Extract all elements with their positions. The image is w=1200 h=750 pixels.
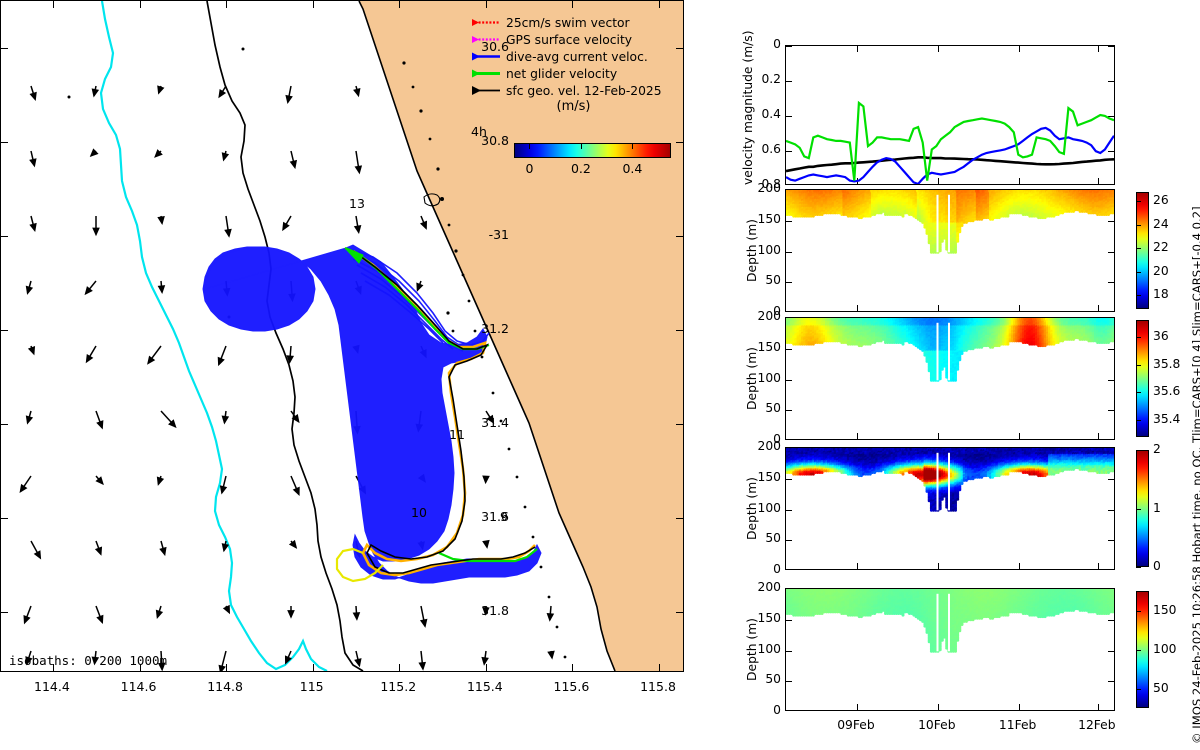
panel-salinity[interactable] [785,317,1115,440]
geostrophic-arrow-head [219,90,224,96]
map-ytick-label: 31.8 [453,603,516,618]
map-ytick-label: 30.8 [453,133,516,148]
geostrophic-arrow-head [283,223,288,229]
map-xtick-mark [486,1,487,8]
map-xtick-mark [53,664,54,671]
panel-ytick-label: 200 [743,181,781,195]
map-xtick-mark [313,664,314,671]
data-point [958,358,961,361]
map-colorbar-tick-label: 0.4 [622,161,642,176]
map-colorbar [514,143,671,158]
map-xtick-label: 115.6 [536,679,606,694]
map-xtick-mark [572,1,573,8]
data-point [961,352,964,355]
geostrophic-arrow-head [219,358,224,364]
data-point [956,240,959,243]
geostrophic-arrow-head [158,86,163,92]
geostrophic-arrow-head [159,217,164,223]
data-gap [937,195,939,253]
colorbar-tick-mark [1136,225,1141,226]
geostrophic-arrow-head [354,89,359,95]
map-colorbar-tick-label: 0.2 [571,161,591,176]
data-point [939,377,942,380]
map-xtick-mark [313,1,314,8]
map-xtick-mark [399,664,400,671]
legend-label: sfc geo. vel. 12-Feb-2025 [506,84,662,98]
map-ytick-label: 31.6 [453,509,516,524]
arrow-right-icon [471,85,501,96]
map-colorbar-tick-label: 0 [525,161,533,176]
geostrophic-arrow-head [221,486,226,492]
colorbar-temperature [1136,192,1149,309]
map-xtick-label: 115.2 [363,679,433,694]
arrow-right-icon [471,68,501,79]
map-xtick-label: 114.8 [190,679,260,694]
geostrophic-arrow-head [356,166,361,172]
map-ytick-mark [676,518,683,519]
map-xtick-mark [659,664,660,671]
data-point [939,249,942,252]
geostrophic-arrow-head [421,620,426,626]
velocity-lines [786,46,1114,184]
data-point [902,215,905,218]
geostrophic-arrow-head [98,616,103,622]
panel-temperature[interactable] [785,189,1115,312]
map-colorbar-tick-mark [529,144,530,149]
geostrophic-arrow-head [548,614,553,620]
map-ytick-mark [1,518,8,519]
map-ytick-mark [676,330,683,331]
map-legend: 25cm/s swim vector GPS surface velocity … [471,14,676,114]
panel-ytick-label: 150 [743,212,781,226]
colorbar-tick-label: 26 [1153,193,1169,207]
map-xtick-mark [140,1,141,8]
geostrophic-arrow-head [355,659,360,665]
data-point [1006,215,1009,218]
map-xtick-mark [140,664,141,671]
map-xtick-mark [572,664,573,671]
colorbar-tick-mark [1136,295,1141,296]
isobath-legend-note: isobaths: 0 200 1000m [9,653,167,668]
colorbar-tick-label: 18 [1153,287,1169,301]
geostrophic-arrow-head [158,478,163,484]
map-xtick-label: 114.4 [17,679,87,694]
map-axes[interactable]: isobaths: 0 200 1000m 25cm/s swim vector… [0,0,684,672]
geostrophic-arrow-head [93,89,98,95]
legend-label: net glider velocity [506,67,617,81]
map-xtick-mark [486,664,487,671]
geostrophic-arrow-head [223,416,228,422]
isobath-1000-path [101,1,327,671]
colorbar-tick-mark [1136,272,1141,273]
panel-ytick-label: 0.6 [743,142,781,156]
geostrophic-arrow-head [420,663,425,669]
legend-label: dive-avg current veloc. [506,50,648,64]
map-ytick-mark [1,236,8,237]
map-colorbar-tick-mark [632,144,633,149]
geostrophic-arrow-head [224,606,229,612]
geostrophic-arrow-head [355,226,360,232]
data-point [941,240,944,243]
data-point [956,368,959,371]
geostrophic-arrow-head [93,228,98,234]
map-colorbar-ticks: 00.20.4 [471,161,676,175]
geostrophic-arrow-head [294,488,299,494]
geostrophic-arrow-head [421,222,426,228]
data-point [958,230,961,233]
colorbar-tick-label: 20 [1153,264,1169,278]
map-ytick-label: 31.4 [453,415,516,430]
geostrophic-arrow-head [223,544,228,550]
geostrophic-arrow-head [98,421,103,427]
data-gap [948,195,950,253]
panel-ytick-label: 0 [743,37,781,51]
map-xtick-mark [226,1,227,8]
panel-ytick-label: 100 [743,243,781,257]
geostrophic-arrow-head [96,548,101,554]
map-colorbar-title: (m/s) [471,99,676,114]
section-scatter [786,190,1114,311]
map-ytick-mark [676,236,683,237]
legend-item-sfc-geo-velocity: sfc geo. vel. 12-Feb-2025 [471,82,676,99]
legend-item-net-glider-velocity: net glider velocity [471,65,676,82]
geostrophic-arrow-head [30,159,35,165]
series-line [786,157,1114,171]
map-ytick-mark [1,142,8,143]
data-point [961,224,964,227]
geostrophic-arrow-head [24,616,29,622]
map-ytick-mark [1,424,8,425]
series-line [786,103,1114,181]
geostrophic-arrow-head [27,416,32,422]
map-ytick-label: 31.2 [453,321,516,336]
data-point [954,379,957,382]
geostrophic-arrow-head [219,666,224,671]
map-ytick-mark [676,142,683,143]
colorbar-tick-label: 24 [1153,217,1169,231]
geostrophic-arrow-head [549,651,554,657]
geostrophic-arrow-head [21,485,27,491]
data-point [954,251,957,254]
legend-label: GPS surface velocity [506,33,632,47]
map-ytick-mark [676,48,683,49]
geostrophic-arrow-head [223,153,228,159]
map-xtick-label: 115.4 [450,679,520,694]
data-point [902,343,905,346]
map-xtick-mark [659,1,660,8]
panel-velocity-magnitude[interactable] [785,45,1115,185]
map-ytick-mark [1,330,8,331]
map-xtick-label: 115 [277,679,347,694]
map-xtick-label: 115.8 [623,679,693,694]
colorbar-tick-label: 22 [1153,240,1169,254]
map-ytick-mark [676,612,683,613]
geostrophic-arrow-head [35,551,40,557]
geostrophic-arrow-head [291,161,296,167]
panel-ytick-label: 50 [743,273,781,287]
map-ytick-mark [1,612,8,613]
dive-number-label: 13 [349,196,365,211]
geostrophic-arrow-head [286,96,291,102]
geostrophic-arrow-head [91,150,97,156]
geostrophic-arrow-head [27,287,32,293]
arrow-right-icon [471,17,501,28]
geostrophic-arrow-head [159,286,164,292]
legend-label: 25cm/s swim vector [506,16,630,30]
data-point [941,368,944,371]
geostrophic-arrow-head [29,347,34,353]
geostrophic-arrow-head [31,224,36,230]
panel-ytick-label: 0.2 [743,72,781,86]
geostrophic-arrow-head [288,611,293,617]
geostrophic-arrow-head [483,476,488,482]
map-xtick-mark [399,1,400,8]
map-ytick-label: -31 [453,227,516,242]
map-xtick-mark [53,1,54,8]
geostrophic-arrow-head [87,355,92,361]
dive-number-label: 10 [411,505,427,520]
colorbar-tick-mark [1136,201,1141,202]
map-panel[interactable]: isobaths: 0 200 1000m 25cm/s swim vector… [0,0,684,672]
geostrophic-arrow-head [354,613,359,619]
map-colorbar-tick-mark [581,144,582,149]
geostrophic-arrow-head [31,93,36,99]
map-ytick-mark [1,48,8,49]
section-scatter [786,318,1114,439]
map-xtick-label: 114.6 [104,679,174,694]
geostrophic-arrow-head [417,284,422,290]
map-ytick-mark [676,424,683,425]
colorbar-tick-mark [1136,248,1141,249]
legend-item-swim-vector: 25cm/s swim vector [471,14,676,31]
geostrophic-arrow-head [157,611,162,617]
geostrophic-arrow-head [161,548,166,554]
geostrophic-arrow-head [225,230,230,236]
geostrophic-arrow-head [483,541,488,547]
map-ytick-label: 30.6 [453,39,516,54]
map-xtick-mark [226,664,227,671]
panel-ytick-label: 0.4 [743,107,781,121]
